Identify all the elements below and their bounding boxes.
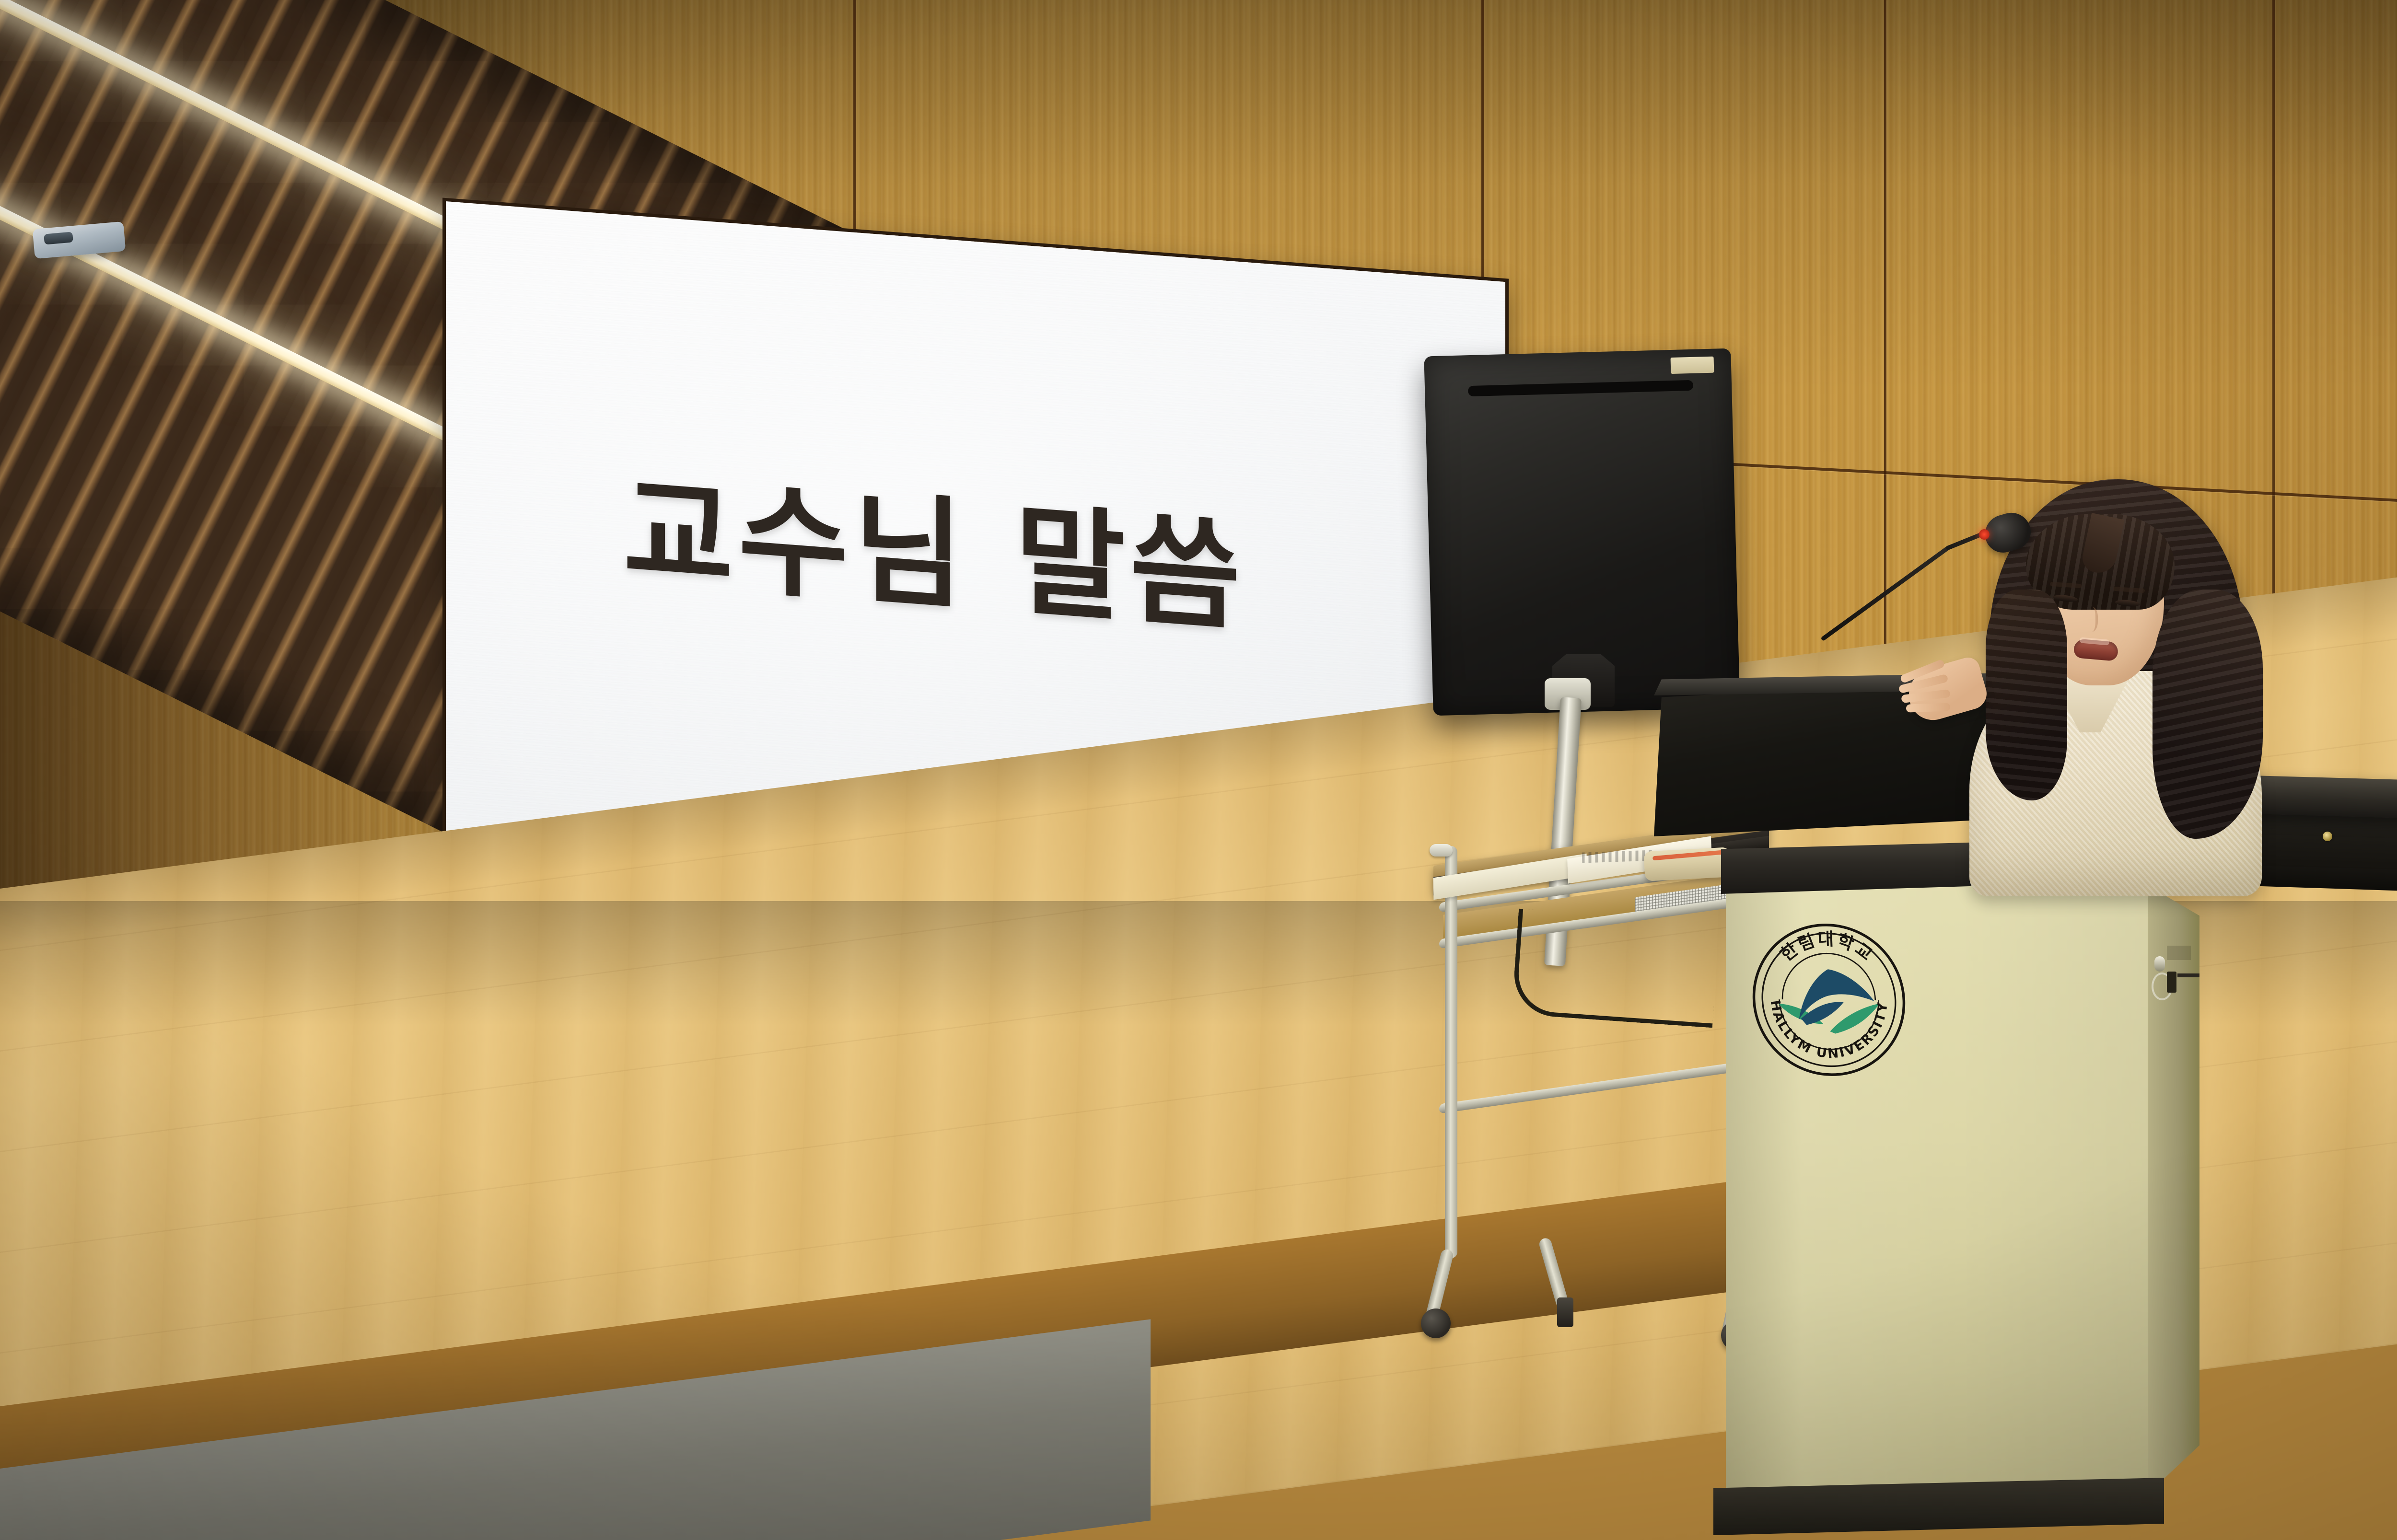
- podium-dash-mark: [2177, 973, 2199, 977]
- cart-height-knob[interactable]: [1430, 844, 1453, 857]
- podium-screw: [2154, 956, 2165, 972]
- podium-control-label[interactable]: [2153, 942, 2197, 999]
- desk-screw: [2323, 832, 2332, 841]
- cart-caster-wheel: [1421, 1308, 1451, 1338]
- zipper: [1652, 850, 1724, 860]
- cart-foot-tip: [1557, 1297, 1573, 1327]
- monitor-vent: [1468, 380, 1693, 396]
- cart-cross-brace: [1439, 1058, 1770, 1114]
- hallym-university-emblem: 한림대학교 HALLYM UNIVERSITY: [1747, 920, 1911, 1080]
- finger: [1906, 703, 1951, 712]
- lecture-hall-scene: 교수님 말씀 한림대학교 언어병리학과: [0, 0, 2397, 1540]
- podium-slot: [2167, 972, 2176, 993]
- microphone-status-led: [1979, 529, 1990, 540]
- monitor-label-sticker: [1671, 357, 1714, 374]
- nose: [2083, 607, 2098, 632]
- av-cables: [1512, 909, 1720, 1028]
- cart-leg: [1445, 846, 1457, 1258]
- lectern-podium[interactable]: 한림대학교 HALLYM UNIVERSITY: [1726, 841, 2282, 1540]
- hair-left-side: [1986, 590, 2067, 800]
- hair-right-side: [2153, 590, 2263, 839]
- cream-pencil-case[interactable]: [1644, 847, 1732, 881]
- podium-tag: [2167, 946, 2191, 960]
